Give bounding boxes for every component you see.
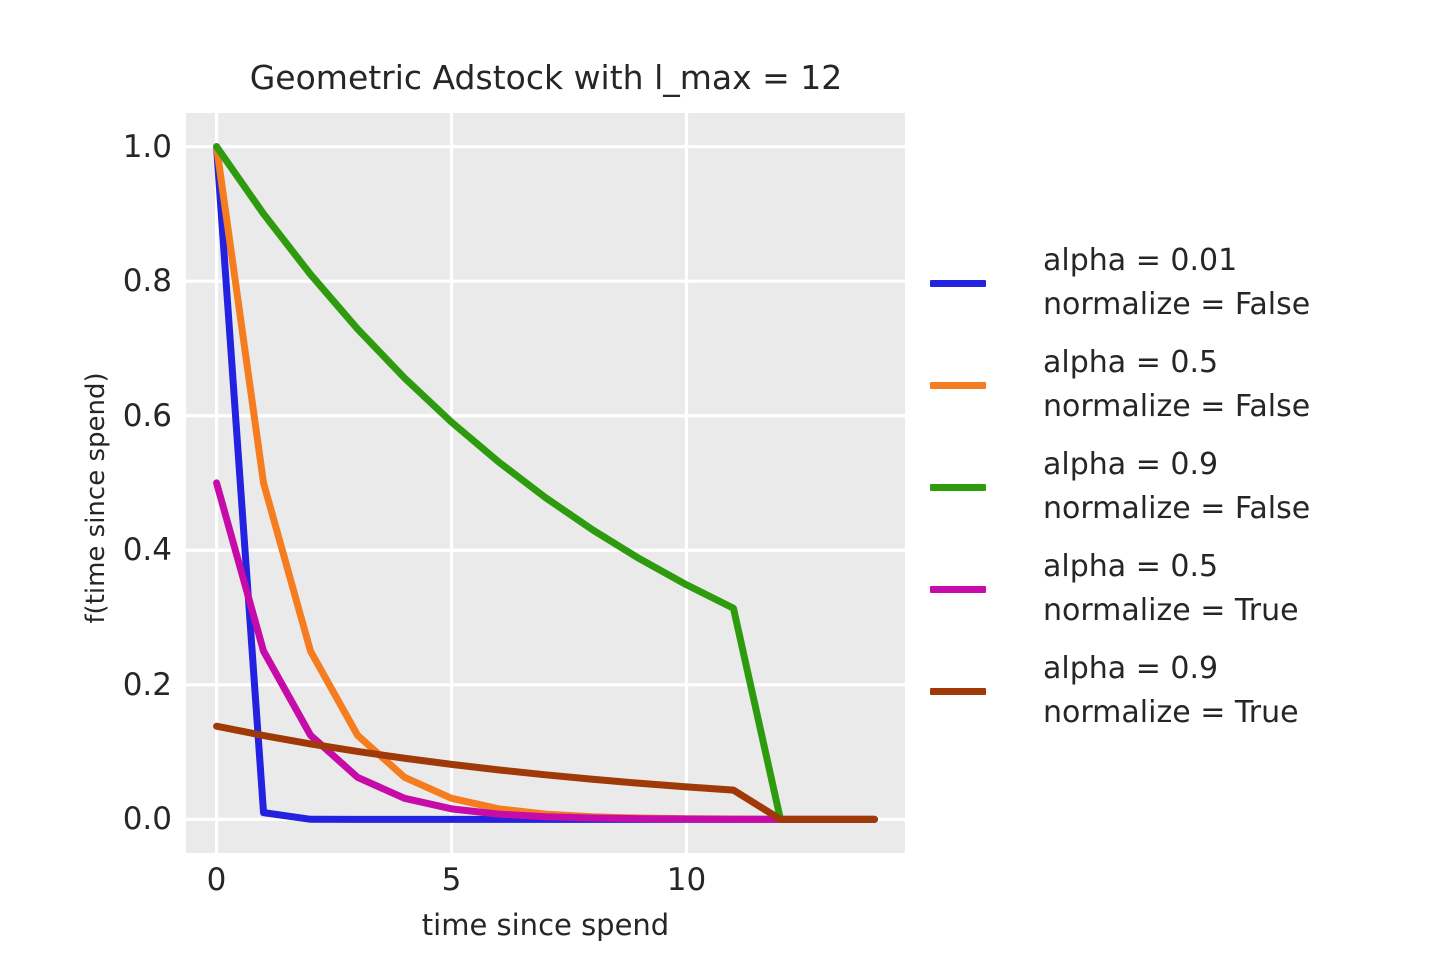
x-axis-tick-labels: 0510 bbox=[186, 862, 905, 906]
legend-label: alpha = 0.5normalize = True bbox=[1043, 545, 1299, 634]
legend-entry[interactable]: alpha = 0.5normalize = True bbox=[930, 538, 1430, 640]
page-title: Geometric Adstock with l_max = 12 bbox=[186, 58, 906, 97]
chart-legend: alpha = 0.01normalize = Falsealpha = 0.5… bbox=[930, 232, 1430, 742]
series-line-0 bbox=[217, 147, 875, 820]
legend-label-alpha: alpha = 0.01 bbox=[1043, 239, 1310, 283]
legend-label-normalize: normalize = True bbox=[1043, 589, 1299, 633]
legend-entry[interactable]: alpha = 0.9normalize = False bbox=[930, 436, 1430, 538]
y-axis-label: f(time since spend) bbox=[81, 128, 111, 868]
chart-figure: Geometric Adstock with l_max = 12 0.00.2… bbox=[0, 0, 1440, 960]
x-tick-label: 10 bbox=[667, 862, 706, 898]
legend-label-alpha: alpha = 0.9 bbox=[1043, 443, 1310, 487]
legend-label: alpha = 0.5normalize = False bbox=[1043, 341, 1310, 430]
plot-area bbox=[186, 113, 905, 853]
legend-label-alpha: alpha = 0.5 bbox=[1043, 545, 1299, 589]
legend-label-alpha: alpha = 0.9 bbox=[1043, 647, 1299, 691]
legend-label-normalize: normalize = True bbox=[1043, 691, 1299, 735]
legend-color-swatch bbox=[930, 586, 986, 593]
legend-label: alpha = 0.9normalize = True bbox=[1043, 647, 1299, 736]
series-line-2 bbox=[217, 147, 875, 820]
legend-color-swatch bbox=[930, 382, 986, 389]
legend-color-swatch bbox=[930, 280, 986, 287]
series-line-3 bbox=[217, 483, 875, 819]
legend-color-swatch bbox=[930, 688, 986, 695]
legend-label-normalize: normalize = False bbox=[1043, 385, 1310, 429]
x-axis-label: time since spend bbox=[186, 908, 905, 942]
x-tick-label: 5 bbox=[442, 862, 462, 898]
legend-label: alpha = 0.01normalize = False bbox=[1043, 239, 1310, 328]
x-tick-label: 0 bbox=[207, 862, 227, 898]
legend-entry[interactable]: alpha = 0.5normalize = False bbox=[930, 334, 1430, 436]
legend-color-swatch bbox=[930, 484, 986, 491]
legend-label: alpha = 0.9normalize = False bbox=[1043, 443, 1310, 532]
legend-entry[interactable]: alpha = 0.9normalize = True bbox=[930, 640, 1430, 742]
legend-label-alpha: alpha = 0.5 bbox=[1043, 341, 1310, 385]
legend-entry[interactable]: alpha = 0.01normalize = False bbox=[930, 232, 1430, 334]
series-line-1 bbox=[217, 147, 875, 820]
legend-label-normalize: normalize = False bbox=[1043, 487, 1310, 531]
legend-label-normalize: normalize = False bbox=[1043, 283, 1310, 327]
series-lines bbox=[186, 113, 905, 853]
